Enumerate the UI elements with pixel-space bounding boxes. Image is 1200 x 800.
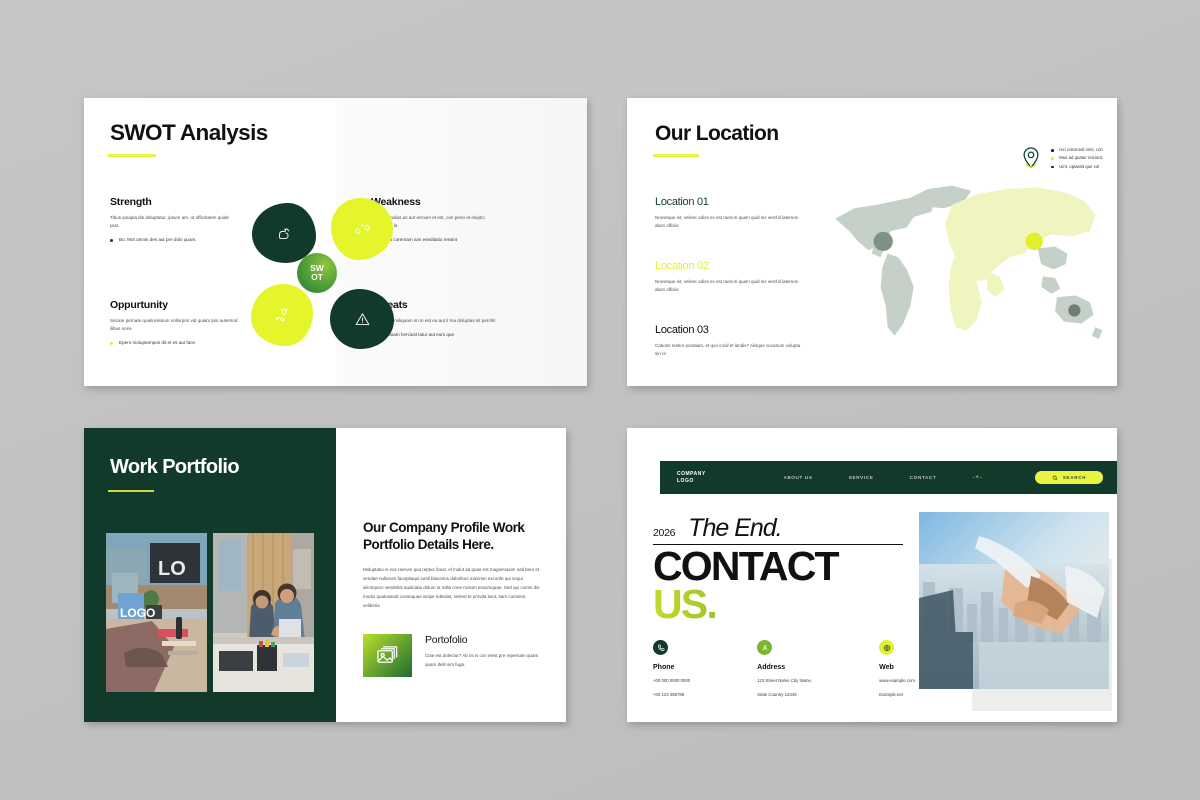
contact-phone: Phone +00 000 0000 0000 +00 123 456789 [653,640,690,699]
asia-marker[interactable] [1025,233,1042,250]
contact-label: Phone [653,664,690,671]
location-item-01: Location 01 Nonseque sit, velese odios e… [655,196,803,231]
web-icon-badge [879,640,894,655]
team-meeting-photo [213,533,314,692]
section-body: Moluptatio is eos raerum qua reptior ibu… [363,565,541,610]
contact-line-1: +00 000 0000 0000 [653,677,690,685]
hand-lightbulb-icon [274,307,291,324]
company-logo[interactable]: COMPANY LOGO [677,471,706,485]
title-underline [108,154,156,157]
location-person-icon [761,644,769,652]
quadrant-body: Secate pernate quationissum vollorpos vi… [110,317,238,333]
hero-divider [653,544,903,545]
search-icon [1052,475,1058,481]
contact-line-2: +00 123 456789 [653,691,690,699]
hero-block: 2026 The End. CONTACT US. [653,514,838,623]
nav-links: ABOUT US SERVICE CONTACT [784,475,937,480]
portfolio-card[interactable]: Portofolio Ciae est dolectur? Ab int is … [363,634,541,677]
page-title: Work Portfolio [110,456,239,479]
legend-item: Isci volorrovit nimi, con [1051,146,1103,154]
warning-triangle-icon [354,311,371,328]
hero-line-1: CONTACT [653,547,838,585]
nav-link-contact[interactable]: CONTACT [910,475,937,480]
swot-blob-threats [330,289,394,349]
card-body: Ciae est dolectur? Ab int is con elest p… [425,652,545,669]
legend-item: Mus ad quatur reiciunt, [1051,154,1103,162]
location-name: Location 03 [655,324,803,336]
map-pin-icon [1020,146,1042,172]
location-item-03: Location 03 Caboris restior poratiam, et… [655,324,803,359]
search-button-label: SEARCH [1063,475,1086,480]
photo1-content: LO LOGO [106,533,207,692]
swot-center-line2: OT [311,273,323,282]
navbar: COMPANY LOGO ABOUT US SERVICE CONTACT -+… [660,461,1117,494]
location-item-02: Location 02 Nonseque sit, velese odios e… [655,260,803,295]
nav-link-about-us[interactable]: ABOUT US [784,475,813,480]
quadrant-heading: Oppurtunity [110,299,242,311]
hero-year: 2026 [653,527,675,539]
contact-line-2: State Country 12345 [757,691,812,699]
hero-line-2: US. [653,585,838,623]
nav-link-service[interactable]: SERVICE [849,475,874,480]
brand-line-2: LOGO [677,478,706,485]
swot-blob-opportunity [251,284,313,346]
legend-item: Uint, optassit que vol [1051,163,1103,171]
contact-web: Web www.example.com Example.net [879,640,915,699]
swot-quadrant-opportunity: Oppurtunity Secate pernate quationissum … [110,299,242,346]
phone-icon [657,644,665,652]
map-legend: Isci volorrovit nimi, con Mus ad quatur … [1020,146,1103,172]
quadrant-heading: Weakness [371,196,503,208]
contact-label: Address [757,664,812,671]
address-icon-badge [757,640,772,655]
handshake-photo-content [919,512,1109,689]
svg-text:LOGO: LOGO [120,606,155,620]
handshake-cityscape-photo [919,512,1109,689]
slide-our-location[interactable]: Our Location Location 01 Nonseque sit, v… [627,98,1117,386]
page-title: SWOT Analysis [110,120,268,146]
contact-blocks: Phone +00 000 0000 0000 +00 123 456789 A… [653,640,915,699]
slide-swot-analysis[interactable]: SWOT Analysis Strength Tibus ipsapla dis… [84,98,587,386]
card-title: Portofolio [425,634,545,646]
swot-quadrant-strength: Strength Tibus ipsapla dis doluptatur, i… [110,196,242,243]
contact-label: Web [879,664,915,671]
world-map [823,156,1111,374]
slide-deck-overview: SWOT Analysis Strength Tibus ipsapla dis… [0,0,1200,800]
australia-marker[interactable] [1068,304,1080,316]
nav-more-icon[interactable]: -+- [972,475,983,481]
office-desk-logo-photo: LO LOGO [106,533,207,692]
map-land-base [835,186,971,336]
swot-center-label: SW OT [297,253,337,293]
location-name: Location 02 [655,260,803,272]
svg-text:LO: LO [158,558,186,580]
brand-line-1: COMPANY [677,471,706,478]
quadrant-body: Tibus ipsapla dis doluptatur, ipsum am, … [110,214,238,230]
contact-address: Address 123 Street Name City Name, State… [757,640,812,699]
location-body: Nonseque sit, velese odios ex est raerio… [655,278,803,295]
contact-line-1: www.example.com [879,677,915,685]
swot-blob-strength [252,203,316,263]
page-title: Our Location [655,122,778,146]
location-body: Nonseque sit, velese odios ex est raerio… [655,214,803,231]
section-heading: Our Company Profile Work Portfolio Detai… [363,520,541,553]
location-body: Caboris restior poratiam, et quo incid e… [655,342,803,359]
search-button[interactable]: SEARCH [1035,471,1103,484]
globe-icon [883,644,891,652]
quadrant-bullet: Bo. Mot omnis des aut pre dolo quam, [110,236,242,243]
contact-line-1: 123 Street Name City Name, [757,677,812,685]
quadrant-heading: Strength [110,196,242,208]
hero-script-text: The End. [688,514,781,543]
location-name: Location 01 [655,196,803,208]
slide3-content: Our Company Profile Work Portfolio Detai… [363,520,541,677]
title-underline [653,154,699,157]
contact-line-2: Example.net [879,691,915,699]
image-stack-icon [363,634,412,677]
flexed-bicep-icon [276,225,293,242]
quadrant-bullet: Epero moluptempos dit et es aut face [110,339,242,346]
slide-contact-us[interactable]: COMPANY LOGO ABOUT US SERVICE CONTACT -+… [627,428,1117,722]
north-america-marker[interactable] [874,232,893,251]
photo2-content [213,533,314,692]
phone-icon-badge [653,640,668,655]
hero-top-row: 2026 The End. [653,514,838,543]
broken-chain-icon [354,221,371,238]
title-underline [108,490,154,492]
map-land-east [1038,247,1103,340]
